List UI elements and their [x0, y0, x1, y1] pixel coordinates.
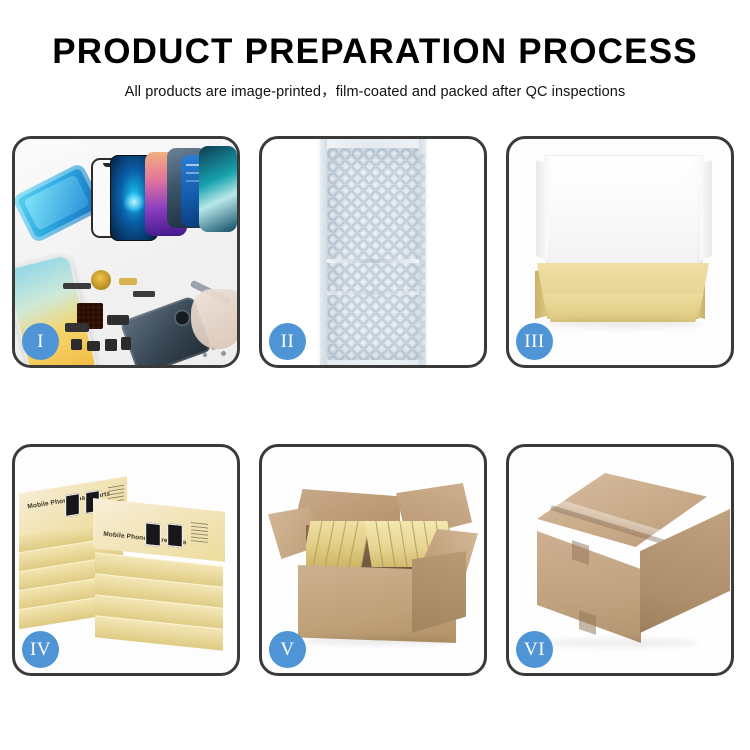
- wrap-edge-left: [317, 139, 327, 365]
- screw-3: [203, 353, 207, 357]
- box-screen-print-rear-1: [65, 493, 80, 517]
- small-part-2: [87, 341, 100, 351]
- small-part-4: [121, 337, 131, 350]
- carton-side-face: [412, 551, 466, 633]
- wrap-seam-1: [327, 259, 419, 263]
- speaker-coil-part: [91, 270, 111, 290]
- product-preparation-infographic: PRODUCT PREPARATION PROCESS All products…: [0, 0, 750, 750]
- sealed-carton-shadow: [543, 639, 699, 647]
- step-badge-3: III: [516, 323, 553, 360]
- step-badge-4: IV: [22, 631, 59, 668]
- box-screen-print-front-1: [145, 522, 161, 547]
- step-panel-1: I: [12, 136, 240, 368]
- page-subtitle: All products are image-printed，film-coat…: [0, 80, 750, 101]
- flex-strip-part: [63, 283, 91, 289]
- box-shadow: [543, 319, 703, 328]
- small-part-3: [105, 339, 117, 351]
- gold-contact-part: [119, 278, 137, 285]
- hand-image: [191, 289, 237, 349]
- sensor-flex-part: [107, 315, 129, 325]
- page-title: PRODUCT PREPARATION PROCESS: [0, 34, 750, 71]
- header: PRODUCT PREPARATION PROCESS All products…: [0, 0, 750, 101]
- step-panel-3: III: [506, 136, 734, 368]
- box-screen-print-front-2: [167, 523, 183, 548]
- step-badge-2: II: [269, 323, 306, 360]
- step-panel-6: VI: [506, 444, 734, 676]
- wrap-seam-2: [327, 291, 419, 295]
- step-panel-5: V: [259, 444, 487, 676]
- phone-teal-curved-image: [199, 146, 237, 232]
- step-badge-6: VI: [516, 631, 553, 668]
- box-spec-lines-front: [191, 520, 208, 543]
- foam-insert: [549, 187, 697, 269]
- step-badge-1: I: [22, 323, 59, 360]
- kraft-tray-front: [539, 294, 707, 322]
- step-panel-4: Mobile Phone Spare Parts Mobile Phone Sp…: [12, 444, 240, 676]
- step-badge-5: V: [269, 631, 306, 668]
- screw-2: [221, 351, 226, 356]
- steps-grid: I II: [12, 136, 738, 676]
- camera-module-part: [65, 323, 89, 332]
- carton-shadow: [302, 637, 452, 645]
- step-panel-2: II: [259, 136, 487, 368]
- small-part-1: [71, 339, 82, 350]
- bubble-grid-secondary: [333, 154, 425, 360]
- button-flex-part: [133, 291, 155, 297]
